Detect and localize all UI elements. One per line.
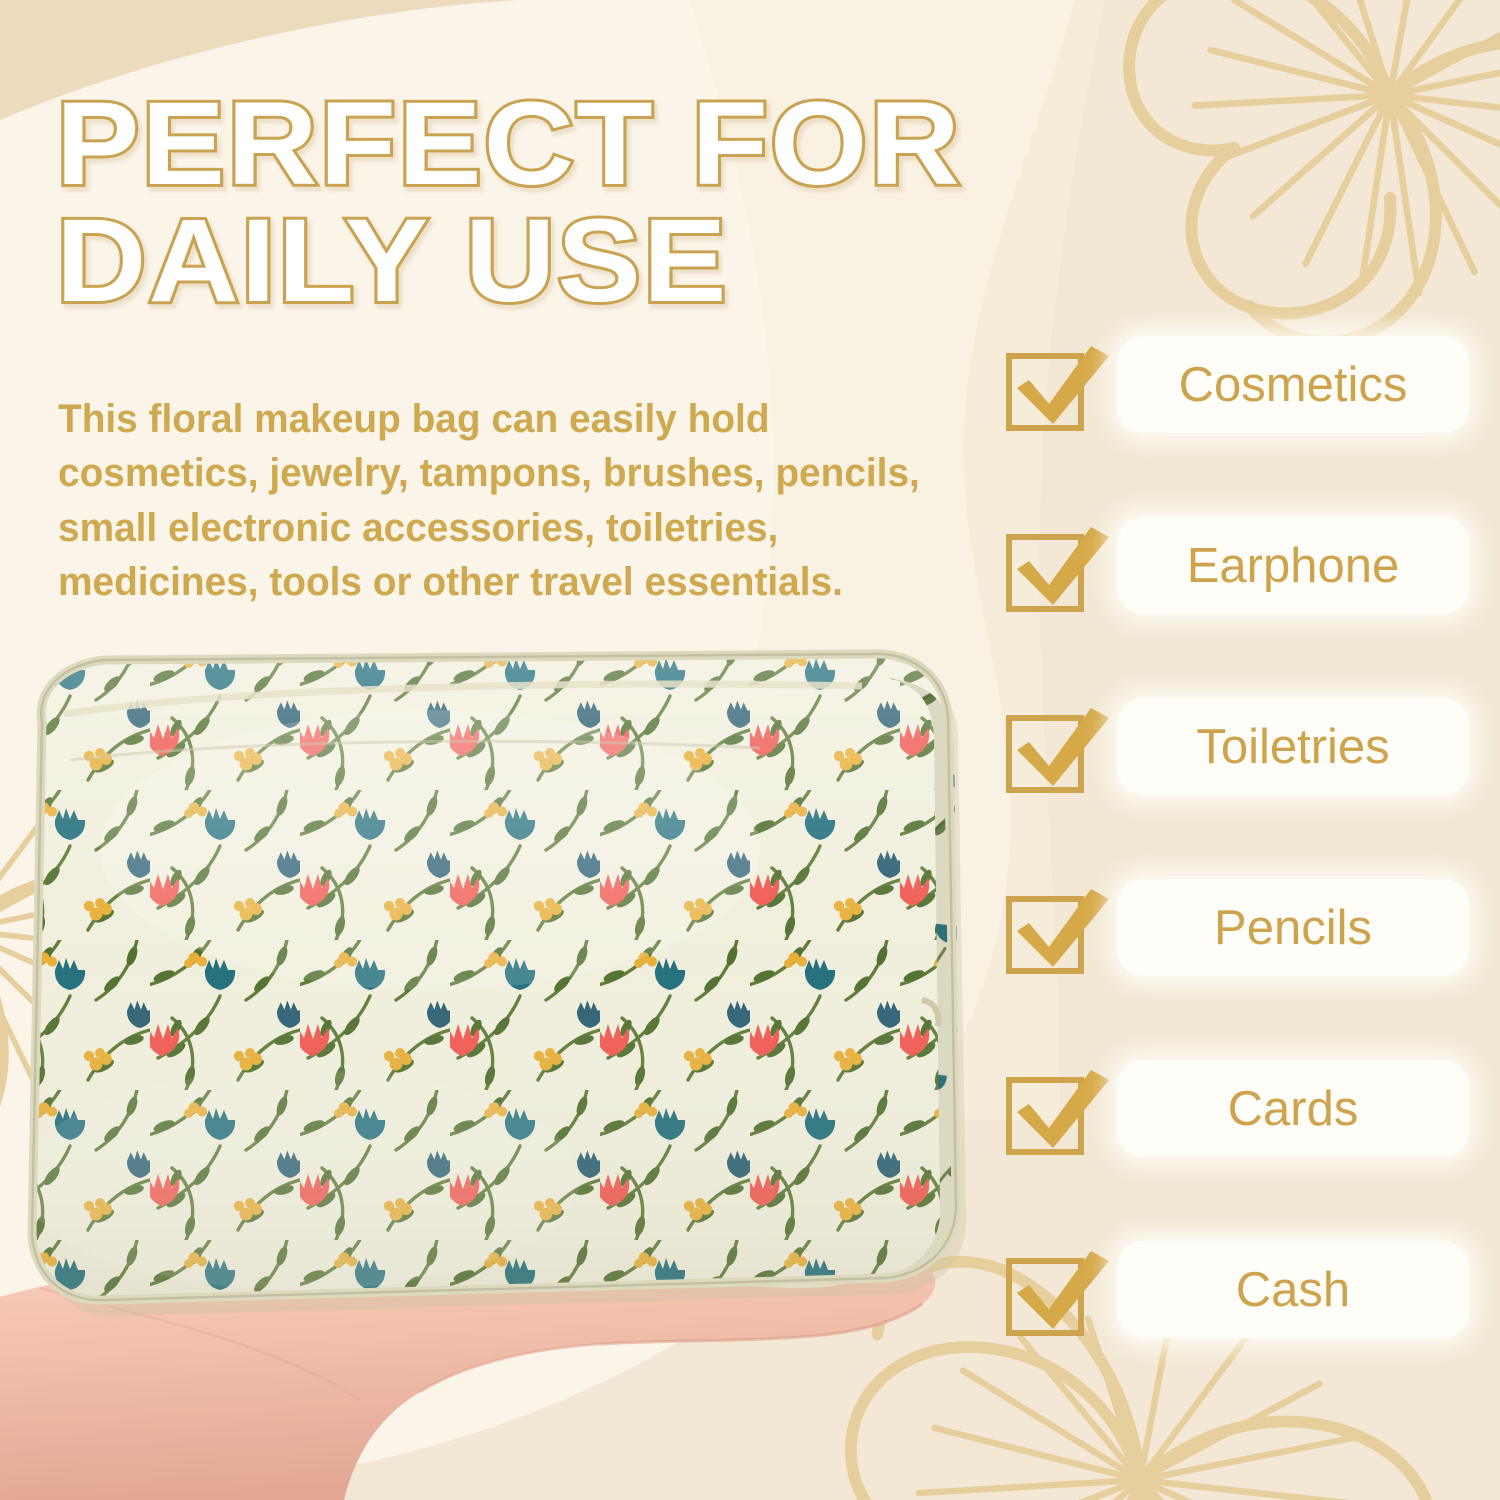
checklist-label: Toiletries	[1196, 719, 1389, 775]
checklist-label: Cosmetics	[1179, 357, 1408, 413]
checkbox-checked-icon[interactable]	[1005, 885, 1113, 975]
bag-highlight-bottom	[20, 1070, 580, 1290]
checklist-row[interactable]: Cosmetics	[1005, 336, 1485, 433]
checklist-pill[interactable]: Cards	[1117, 1060, 1469, 1157]
page-title: PERFECT FOR DAILY USE	[56, 86, 1074, 320]
bag-highlight-top	[100, 710, 760, 990]
checkbox-checked-icon[interactable]	[1005, 704, 1113, 794]
promo-graphic: PERFECT FOR DAILY USE PERFECT FOR DAILY …	[0, 0, 1500, 1500]
checklist-pill[interactable]: Pencils	[1117, 879, 1469, 976]
product-photo	[0, 640, 1000, 1500]
checklist-label: Earphone	[1187, 538, 1400, 594]
checklist-row[interactable]: Earphone	[1005, 517, 1485, 614]
checkbox-checked-icon[interactable]	[1005, 523, 1113, 613]
checklist-label: Cash	[1236, 1262, 1350, 1318]
makeup-bag	[0, 640, 1000, 1340]
checklist-row[interactable]: Cards	[1005, 1060, 1485, 1157]
description-text: This floral makeup bag can easily hold c…	[58, 392, 980, 610]
checkbox-checked-icon[interactable]	[1005, 342, 1113, 432]
checkbox-checked-icon[interactable]	[1005, 1247, 1113, 1337]
checklist-label: Pencils	[1214, 900, 1372, 956]
checklist-label: Cards	[1228, 1081, 1359, 1137]
checklist-row[interactable]: Cash	[1005, 1241, 1485, 1338]
checkbox-checked-icon[interactable]	[1005, 1066, 1113, 1156]
checklist-row[interactable]: Pencils	[1005, 879, 1485, 976]
checklist-pill[interactable]: Toiletries	[1117, 698, 1469, 795]
checklist-pill[interactable]: Cosmetics	[1117, 336, 1469, 433]
checklist-pill[interactable]: Cash	[1117, 1241, 1469, 1338]
feature-checklist: Cosmetics Earphone Toiletries	[1005, 336, 1485, 1338]
checklist-row[interactable]: Toiletries	[1005, 698, 1485, 795]
checklist-pill[interactable]: Earphone	[1117, 517, 1469, 614]
